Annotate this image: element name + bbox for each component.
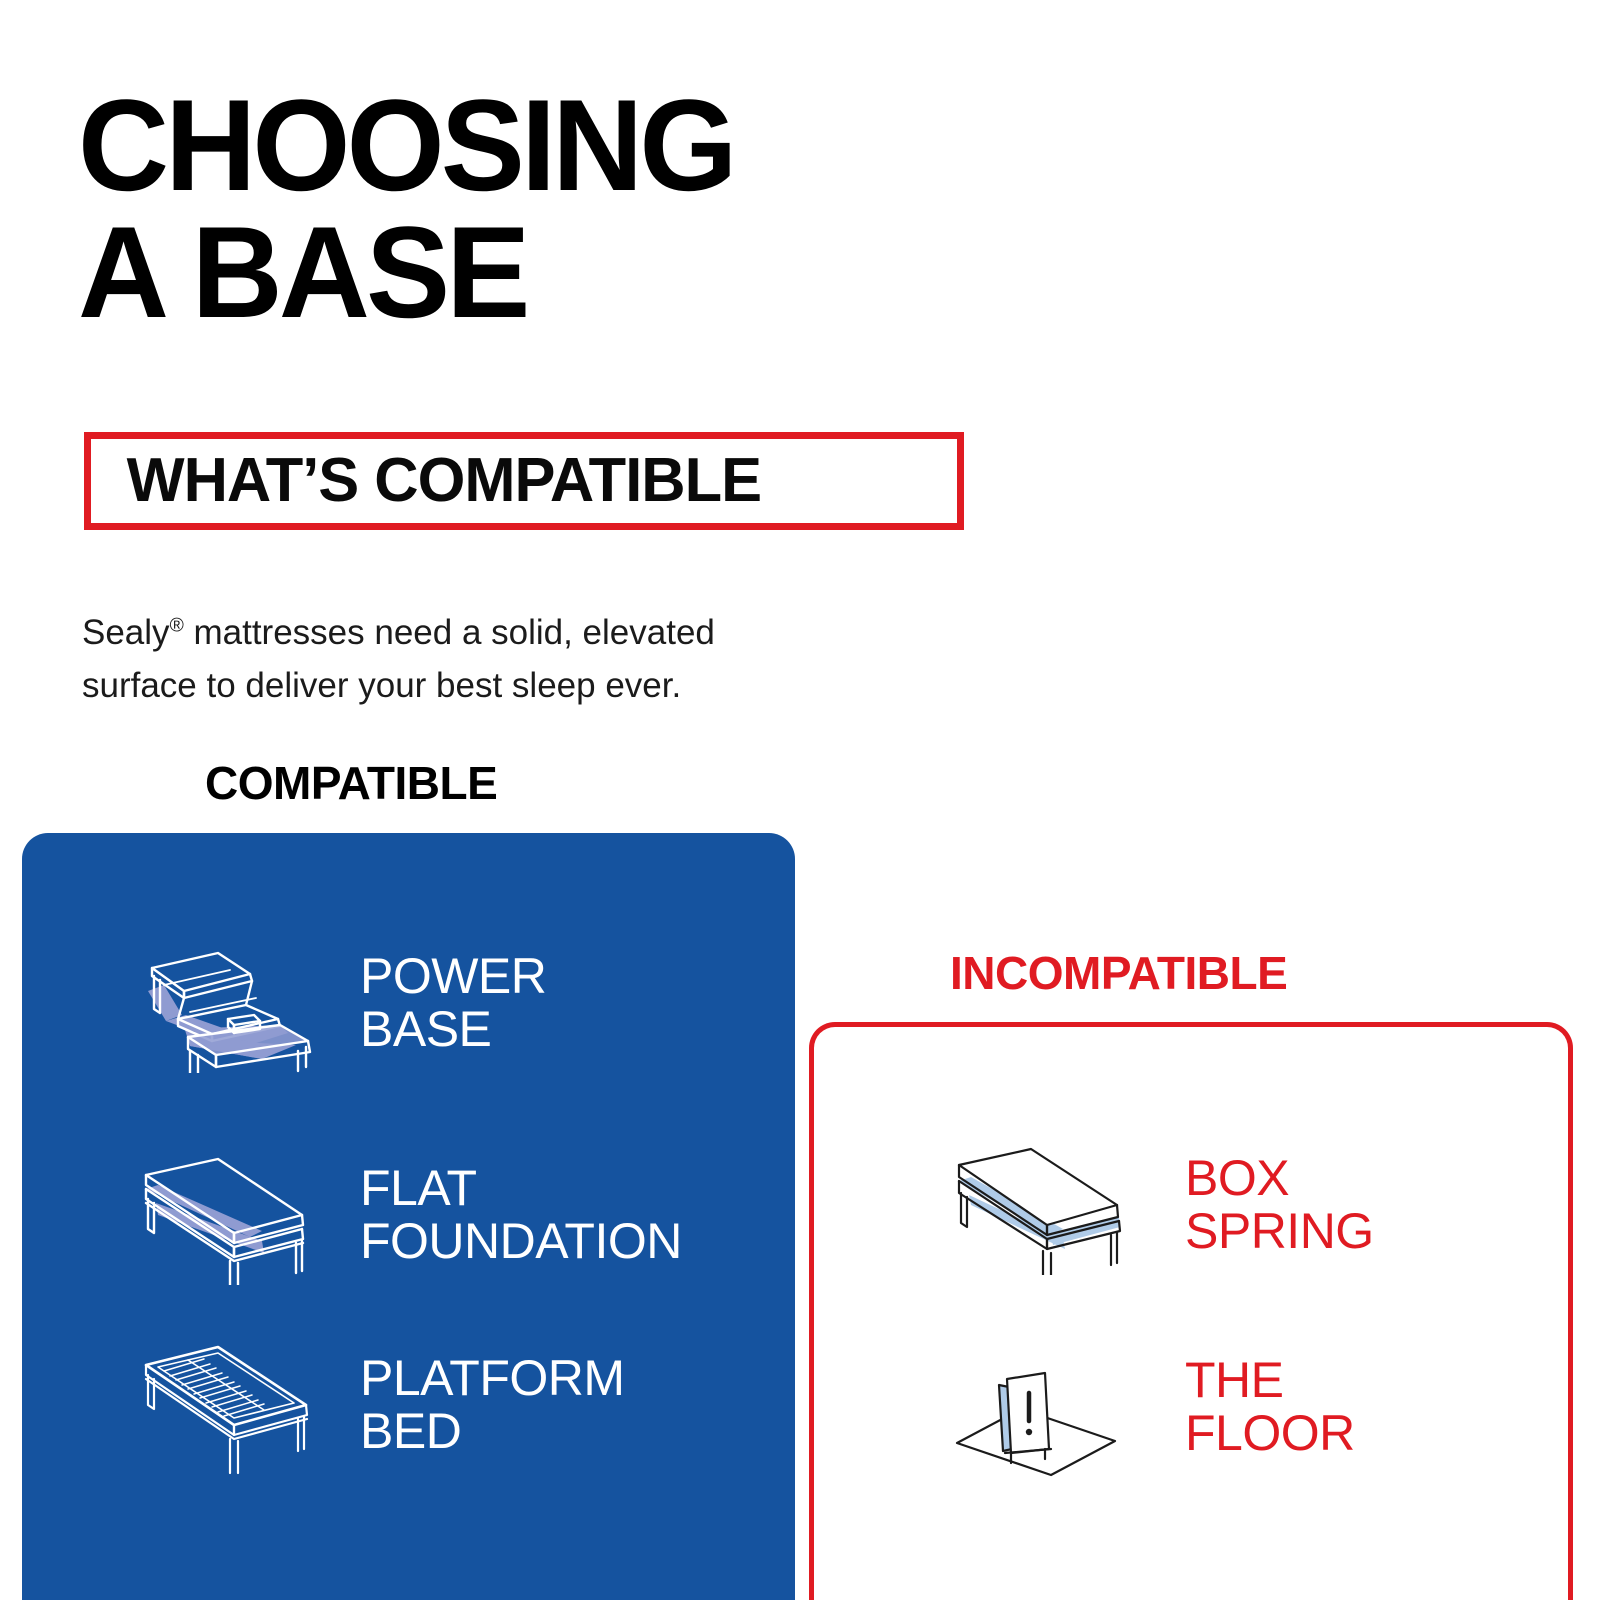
infographic-canvas: CHOOSING A BASE WHAT’S COMPATIBLE Sealy®… [0, 0, 1600, 1600]
list-item: POWER BASE [122, 928, 546, 1078]
intro-brand: Sealy [82, 613, 170, 652]
incompatible-panel [809, 1022, 1573, 1600]
adjustable-power-base-icon [122, 928, 322, 1078]
platform-bed-slats-icon [122, 1330, 322, 1480]
list-item: FLAT FOUNDATION [122, 1140, 682, 1290]
list-item: PLATFORM BED [122, 1330, 625, 1480]
registered-trademark-mark: ® [170, 615, 184, 636]
list-item-label: POWER BASE [322, 950, 546, 1056]
box-spring-icon [935, 1130, 1135, 1280]
flat-foundation-icon [122, 1140, 322, 1290]
list-item: BOX SPRING [935, 1130, 1374, 1280]
list-item-label: BOX SPRING [1135, 1152, 1374, 1258]
section-heading-compatible: COMPATIBLE [205, 760, 497, 806]
list-item-label: PLATFORM BED [322, 1352, 625, 1458]
section-heading-incompatible: INCOMPATIBLE [950, 950, 1287, 996]
whats-compatible-banner: WHAT’S COMPATIBLE [84, 432, 964, 530]
page-title: CHOOSING A BASE [78, 82, 1048, 337]
intro-line-2: surface to deliver your best sleep ever. [82, 666, 681, 705]
list-item-label: THE FLOOR [1135, 1354, 1355, 1460]
intro-paragraph: Sealy® mattresses need a solid, elevated… [82, 607, 802, 712]
list-item-label: FLAT FOUNDATION [322, 1162, 682, 1268]
intro-rest: mattresses need a solid, elevated [184, 613, 715, 652]
list-item: THE FLOOR [935, 1332, 1355, 1482]
banner-label: WHAT’S COMPATIBLE [91, 450, 761, 512]
caution-sign-on-floor-icon [935, 1332, 1135, 1482]
